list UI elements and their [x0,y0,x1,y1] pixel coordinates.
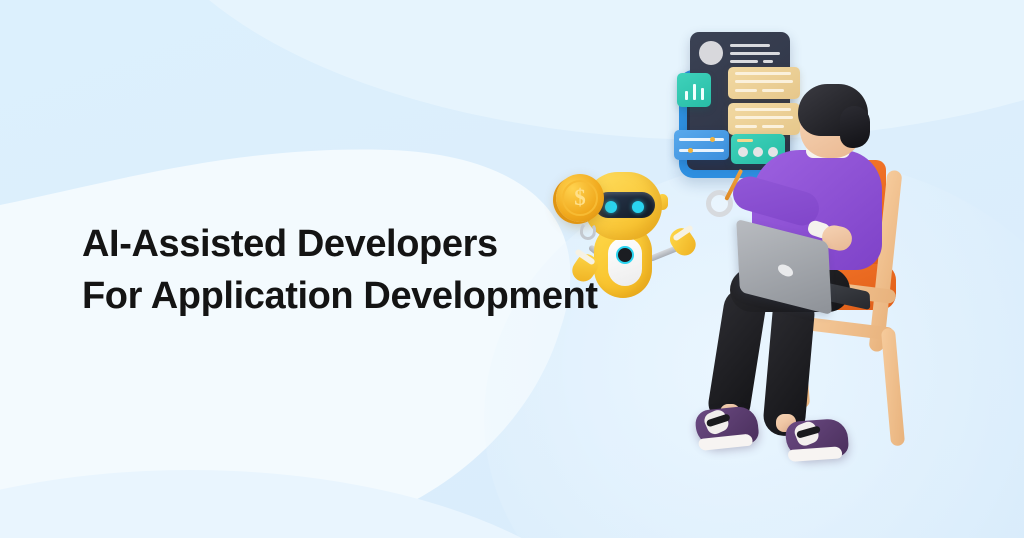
gold-dollar-coin: $ [556,174,604,222]
shoe-right [785,418,849,460]
slider-card [674,130,729,160]
laptop [738,231,866,317]
mini-chart-card [677,73,711,107]
page-title: AI-Assisted Developers For Application D… [82,218,622,322]
headline-line-1: AI-Assisted Developers [82,218,622,270]
slider-track [679,149,724,152]
hero-banner: AI-Assisted Developers For Application D… [0,0,1024,538]
hair-side [840,106,870,148]
robot-eye-right [632,201,644,213]
shoe-sole [698,433,753,451]
chart-bar [701,88,704,100]
chart-bar [685,91,688,100]
text-line [730,52,780,55]
text-line [730,44,770,47]
headline-line-2: For Application Development [82,270,622,322]
text-line [763,60,773,63]
robot-eye-left [605,201,617,213]
slider-knob [688,148,693,153]
text-line [730,60,758,63]
shoe-sole [788,446,843,462]
slider-track [679,138,724,141]
robot-visor [595,192,655,218]
slider-knob [710,137,715,142]
pointer-stick [724,169,743,201]
chart-bar [693,84,696,100]
text-line [735,80,793,83]
avatar [699,41,723,65]
coin-dollar-symbol: $ [562,180,598,216]
text-line [735,72,791,75]
shoe-left [694,405,760,449]
